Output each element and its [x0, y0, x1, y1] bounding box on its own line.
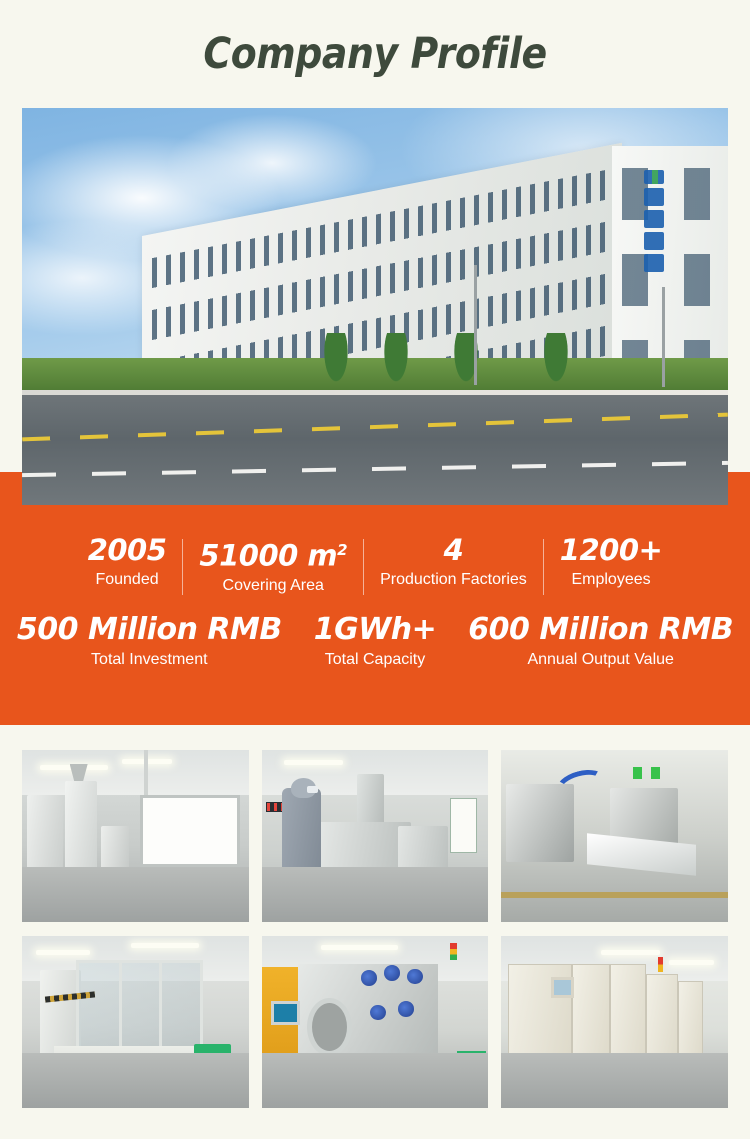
- stat-label: Covering Area: [223, 573, 324, 599]
- signage-char-3: [644, 232, 664, 250]
- company-logo-mark: [644, 170, 664, 184]
- key-figures-row-2: 500 Million RMB Total Investment 1GWh+ T…: [0, 599, 750, 673]
- floor: [22, 867, 249, 922]
- stat-value-superscript: 2: [337, 541, 347, 559]
- stat-value: 500 Million RMB: [17, 613, 282, 647]
- facility-photo-grid: [22, 750, 728, 1108]
- gallery-photo-2: [262, 750, 489, 922]
- key-figures-row-1: 2005 Founded 51000 m2 Covering Area 4 Pr…: [0, 515, 750, 599]
- floor: [22, 1053, 249, 1108]
- page-title-container: Company Profile: [0, 0, 750, 108]
- stat-production-factories: 4 Production Factories: [364, 533, 543, 593]
- company-profile-page: Company Profile 2005 Fou: [0, 0, 750, 1139]
- stat-founded: 2005 Founded: [72, 533, 183, 593]
- ceiling-lamp: [669, 960, 714, 965]
- floor: [262, 867, 489, 922]
- stat-label: Total Investment: [91, 647, 208, 673]
- metal-plate: [587, 834, 696, 876]
- roller: [398, 1001, 414, 1016]
- machine-unit: [357, 774, 384, 826]
- ceiling-lamp: [321, 945, 398, 950]
- stat-total-investment: 500 Million RMB Total Investment: [1, 613, 298, 673]
- tree-icon: [542, 333, 570, 387]
- ceiling: [22, 750, 249, 795]
- gallery-photo-5: [262, 936, 489, 1108]
- stat-label: Total Capacity: [325, 647, 426, 673]
- ceiling-lamp: [36, 950, 90, 955]
- ceiling-lamp: [131, 943, 199, 948]
- road-surface: [22, 395, 728, 505]
- signage-char-1: [644, 188, 664, 206]
- green-indicator: [633, 767, 642, 779]
- floor: [501, 1053, 728, 1108]
- lamp-post: [662, 287, 665, 387]
- hmi-screen: [271, 1001, 300, 1025]
- signal-tower-light: [450, 943, 457, 960]
- stat-label: Employees: [571, 567, 650, 593]
- signal-tower-light: [658, 957, 664, 972]
- stat-employees: 1200+ Employees: [544, 533, 679, 593]
- stat-value: 2005: [88, 533, 167, 567]
- stat-annual-output-value: 600 Million RMB Annual Output Value: [452, 613, 749, 673]
- stat-label: Production Factories: [380, 567, 527, 593]
- floor: [262, 1053, 489, 1108]
- machine-unit: [398, 826, 448, 871]
- key-figures: 2005 Founded 51000 m2 Covering Area 4 Pr…: [0, 515, 750, 673]
- whiteboard: [140, 795, 240, 867]
- stat-value: 600 Million RMB: [468, 613, 733, 647]
- signage-char-2: [644, 210, 664, 228]
- roller: [384, 965, 400, 980]
- conveyor-rail: [501, 892, 728, 898]
- stat-label: Annual Output Value: [527, 647, 673, 673]
- tree-icon: [322, 333, 350, 387]
- stat-value-text: 51000 m: [199, 539, 337, 573]
- stat-total-capacity: 1GWh+ Total Capacity: [298, 613, 453, 673]
- ceiling-lamp: [601, 950, 660, 955]
- green-indicator: [651, 767, 660, 779]
- stat-covering-area: 51000 m2 Covering Area: [183, 533, 363, 599]
- stat-label: Founded: [95, 567, 158, 593]
- gallery-photo-6: [501, 936, 728, 1108]
- gallery-photo-3: [501, 750, 728, 922]
- stat-value: 1GWh+: [314, 613, 437, 647]
- stat-value: 51000 m2: [199, 533, 347, 573]
- roller: [407, 969, 423, 984]
- worker-face-mask: [307, 786, 318, 793]
- ceiling-lamp: [284, 760, 343, 765]
- signage-char-4: [644, 254, 664, 272]
- gallery-photo-4: [22, 936, 249, 1108]
- lamp-post: [474, 265, 477, 385]
- gallery-photo-1: [22, 750, 249, 922]
- roller: [361, 970, 377, 985]
- stat-value: 4: [444, 533, 464, 567]
- stat-value: 1200+: [560, 533, 663, 567]
- hmi-screen: [551, 977, 574, 998]
- hero-building-photo: [22, 108, 728, 505]
- building-signage: [644, 170, 664, 280]
- posted-document: [450, 798, 477, 853]
- grass-strip: [22, 358, 728, 392]
- page-title: Company Profile: [203, 29, 546, 79]
- tree-icon: [382, 333, 410, 387]
